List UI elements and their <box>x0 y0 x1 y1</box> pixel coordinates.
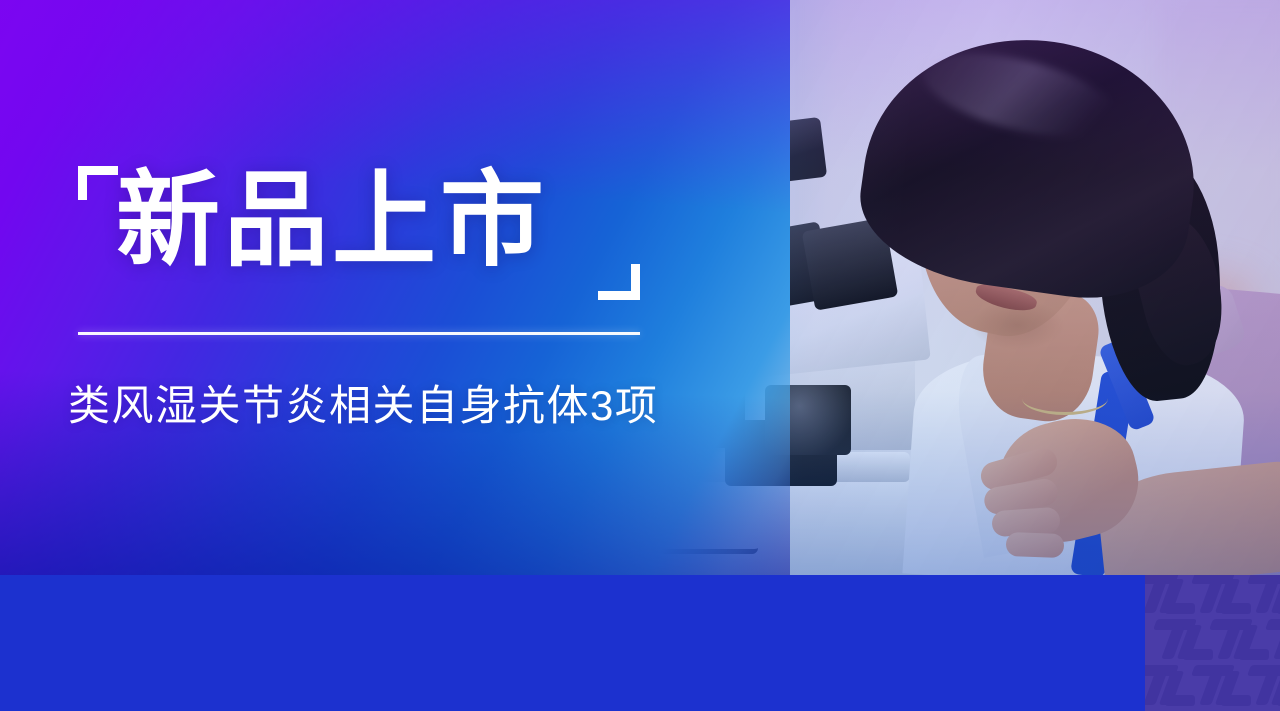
watermark-7l-icon <box>1191 659 1253 709</box>
watermark-7l-icon <box>1145 659 1197 709</box>
promotional-banner: 新品上市 类风湿关节炎相关自身抗体3项 丽珠试剂 LIVZON 创新科技·呵护生… <box>0 0 1280 711</box>
hero-copy: 新品上市 类风湿关节炎相关自身抗体3项 <box>0 0 1280 575</box>
watermark-7l-icon <box>1247 575 1280 617</box>
corner-bracket-bottom-right-icon <box>598 264 640 300</box>
footer-watermark-pattern <box>1145 575 1280 711</box>
watermark-7l-icon <box>1209 705 1271 711</box>
watermark-7l-icon <box>1209 613 1271 663</box>
product-subtitle: 类风湿关节炎相关自身抗体3项 <box>68 372 658 433</box>
watermark-7l-icon <box>1265 705 1280 711</box>
watermark-7l-icon <box>1247 659 1280 709</box>
watermark-7l-icon <box>1265 613 1280 663</box>
corner-bracket-top-left-icon <box>78 166 118 200</box>
headline: 新品上市 <box>116 166 548 276</box>
watermark-7l-icon <box>1153 613 1215 663</box>
watermark-7l-icon <box>1191 575 1253 617</box>
watermark-7l-icon <box>1153 705 1215 711</box>
footer-bar: 丽珠试剂 LIVZON 创新科技·呵护生命 Innovation for lif… <box>0 575 1280 711</box>
headline-divider <box>78 332 640 335</box>
hero-section: 新品上市 类风湿关节炎相关自身抗体3项 <box>0 0 1280 575</box>
watermark-7l-icon <box>1145 575 1197 617</box>
